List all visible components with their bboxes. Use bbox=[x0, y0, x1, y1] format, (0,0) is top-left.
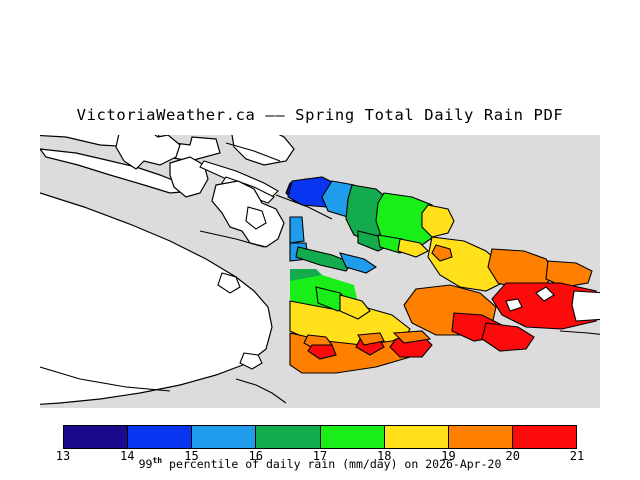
colorbar-band-18-19[interactable] bbox=[385, 426, 449, 448]
colorbar-bands[interactable] bbox=[63, 425, 577, 449]
land-sw-islet-2 bbox=[240, 353, 262, 369]
coastline-sw-inlet bbox=[236, 379, 286, 403]
colorbar-band-19-20[interactable] bbox=[449, 426, 513, 448]
map-canvas[interactable] bbox=[40, 135, 600, 408]
region-east-island-white-notch bbox=[572, 291, 600, 321]
colorbar[interactable] bbox=[63, 425, 577, 449]
region-west-coast-strip[interactable] bbox=[290, 217, 304, 243]
region-gulf-islands-north[interactable] bbox=[422, 205, 454, 237]
colorbar-caption-superscript: th bbox=[152, 456, 162, 465]
map-panel[interactable] bbox=[40, 135, 600, 408]
colorbar-caption-prefix: 99 bbox=[139, 457, 153, 471]
colorbar-caption-rest: percentile of daily rain (mm/day) on 202… bbox=[162, 457, 501, 471]
colorbar-caption: 99th percentile of daily rain (mm/day) o… bbox=[0, 456, 640, 471]
colorbar-band-20-21[interactable] bbox=[513, 426, 576, 448]
screenshot-root: VictoriaWeather.ca —— Spring Total Daily… bbox=[0, 0, 640, 480]
coastline-east-islet-line bbox=[560, 331, 600, 335]
colorbar-band-13-14[interactable] bbox=[64, 426, 128, 448]
colorbar-band-16-17[interactable] bbox=[256, 426, 320, 448]
colorbar-band-15-16[interactable] bbox=[192, 426, 256, 448]
data-regions-group[interactable] bbox=[286, 177, 600, 373]
colorbar-band-17-18[interactable] bbox=[321, 426, 385, 448]
colorbar-band-14-15[interactable] bbox=[128, 426, 192, 448]
land-ne-bay bbox=[232, 135, 294, 165]
land-unfilled-group bbox=[40, 135, 294, 405]
page-title: VictoriaWeather.ca —— Spring Total Daily… bbox=[0, 106, 640, 124]
